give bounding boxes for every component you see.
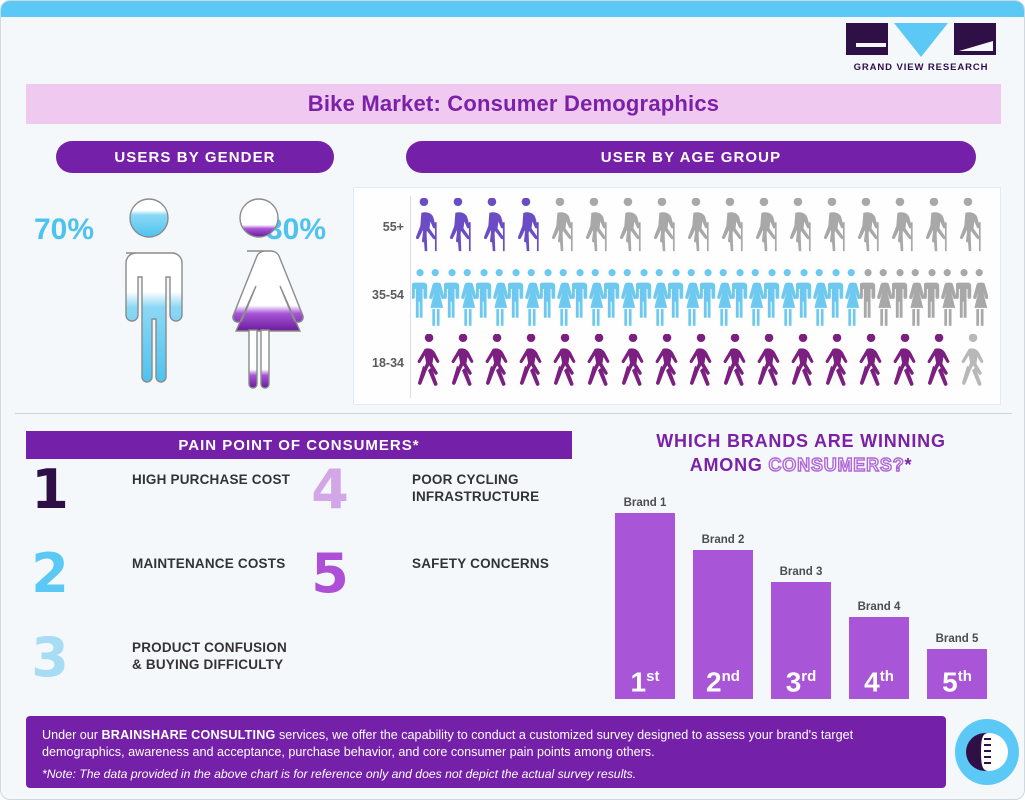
brainshare-brain-icon [953,717,1021,787]
logo-marks [846,23,996,57]
age-row-55-plus: 55+ [354,194,1002,260]
brands-title-line1: WHICH BRANDS ARE WINNING [601,429,1001,453]
section-label-gender: USERS BY GENDER [114,149,275,166]
age-row-label: 35-54 [354,288,410,302]
page-title: Bike Market: Consumer Demographics [308,91,719,117]
footer-banner: Under our BRAINSHARE CONSULTING services… [26,716,946,788]
walking-person-icon-filled [684,334,718,396]
elderly-with-cane-icon-empty [922,198,956,260]
couple-icon-filled [540,266,572,328]
couple-icon-filled [572,266,604,328]
couple-icon-filled [828,266,860,328]
pain-point-number: 3 [26,635,74,683]
couple-icon-empty [860,266,892,328]
elderly-with-cane-icon-empty [786,198,820,260]
couple-icon-filled [604,266,636,328]
couple-icon-filled [732,266,764,328]
pain-point-label-line2: INFRASTRUCTURE [412,488,539,505]
couple-icon-filled [764,266,796,328]
elderly-with-cane-icon-empty [616,198,650,260]
brand-bar: 3rd [771,582,831,699]
elderly-with-cane-icon-filled [446,198,480,260]
brands-bar-chart: Brand 11stBrand 22ndBrand 33rdBrand 44th… [601,481,1001,699]
elderly-with-cane-icon-empty [582,198,616,260]
brand-rank-label: 1st [631,663,660,696]
brand-rank-number: 4 [864,666,880,697]
pain-point-number: 5 [306,551,354,599]
couple-icon-filled [412,266,444,328]
walking-person-icon-filled [820,334,854,396]
logo-wordmark: GRAND VIEW RESEARCH [846,62,996,73]
infographic-canvas: GRAND VIEW RESEARCH Bike Market: Consume… [0,0,1025,800]
pain-point-label-line1: PRODUCT CONFUSION [132,639,287,656]
couple-icon-empty [956,266,988,328]
walking-person-icon-filled [650,334,684,396]
walking-person-icon-empty [956,334,990,396]
pain-point-label-line1: HIGH PURCHASE COST [132,471,290,488]
walking-person-icon-filled [582,334,616,396]
brand-bar-column: Brand 11st [615,497,675,699]
walking-person-icon-filled [616,334,650,396]
couple-icon-filled [796,266,828,328]
brands-title-line2: AMONG CONSUMERS?* [601,453,1001,477]
couple-icon-filled [508,266,540,328]
couple-icon-empty [924,266,956,328]
footer-text-before: Under our [42,728,102,742]
section-divider [15,413,1012,414]
age-row-label: 55+ [354,220,410,234]
age-pictogram-strip [410,266,1002,328]
section-header-users-by-gender: USERS BY GENDER [56,141,334,173]
brands-title-consumers: CONSUMERS? [768,455,904,475]
top-accent-bar [1,1,1025,17]
couple-icon-filled [700,266,732,328]
walking-person-icon-filled [752,334,786,396]
elderly-with-cane-icon-empty [684,198,718,260]
pain-point-label: POOR CYCLINGINFRASTRUCTURE [412,467,539,505]
brand-bar-column: Brand 22nd [693,534,753,699]
brand-rank-suffix: rd [801,668,816,685]
pain-point-label-line2: & BUYING DIFFICULTY [132,656,287,673]
brand-bar-label: Brand 1 [624,497,667,509]
brand-bar-label: Brand 4 [858,601,901,613]
brands-chart-title: WHICH BRANDS ARE WINNING AMONG CONSUMERS… [601,429,1001,477]
couple-icon-filled [476,266,508,328]
footer-brand-name: BRAINSHARE CONSULTING [102,728,276,742]
section-header-user-by-age-group: USER BY AGE GROUP [406,141,976,173]
brand-rank-number: 5 [942,666,958,697]
brand-rank-suffix: th [880,668,894,685]
brand-rank-label: 3rd [786,663,817,696]
elderly-with-cane-icon-filled [412,198,446,260]
footer-main-text: Under our BRAINSHARE CONSULTING services… [42,727,930,761]
age-group-chart: 55+ 35-54 18-34 [353,187,1001,405]
brand-rank-suffix: st [646,668,659,685]
brands-title-asterisk: * [905,455,913,475]
walking-person-icon-filled [922,334,956,396]
grand-view-research-logo: GRAND VIEW RESEARCH [846,23,996,73]
walking-person-icon-filled [718,334,752,396]
gender-chart: 70% 30% [26,191,336,406]
logo-triangle-v-icon [894,23,948,57]
pain-points-list: 1HIGH PURCHASE COST2MAINTENANCE COSTS3PR… [26,467,586,697]
brands-title-among: AMONG [690,455,769,475]
pain-point-number: 4 [306,467,354,515]
logo-letter-r-icon [954,23,996,55]
brand-rank-number: 3 [786,666,802,697]
section-header-pain-points: PAIN POINT OF CONSUMERS* [26,431,572,459]
pain-point-label-line1: POOR CYCLING [412,471,539,488]
age-pictogram-strip [410,198,1002,260]
walking-person-icon-filled [514,334,548,396]
couple-icon-filled [636,266,668,328]
brand-bar: 5th [927,649,987,699]
brand-bar-column: Brand 55th [927,633,987,699]
elderly-with-cane-icon-empty [820,198,854,260]
section-label-pain: PAIN POINT OF CONSUMERS* [178,437,419,454]
pain-point-label: MAINTENANCE COSTS [132,551,285,572]
walking-person-icon-filled [548,334,582,396]
elderly-with-cane-icon-empty [956,198,990,260]
walking-person-icon-filled [412,334,446,396]
brand-rank-label: 2nd [706,663,740,696]
brand-rank-number: 1 [631,666,647,697]
pain-point-label-line1: MAINTENANCE COSTS [132,555,285,572]
male-percent-label: 70% [34,213,94,247]
pain-point-label: SAFETY CONCERNS [412,551,549,572]
walking-person-icon-filled [786,334,820,396]
age-pictogram-strip [410,334,1002,396]
brand-bar-column: Brand 33rd [771,566,831,699]
pain-point-item: 5SAFETY CONCERNS [306,551,549,599]
age-row-label: 18-34 [354,356,410,370]
brand-rank-label: 4th [864,663,894,696]
couple-icon-filled [444,266,476,328]
female-silhouette-icon [204,191,314,391]
pain-point-item: 1HIGH PURCHASE COST [26,467,290,515]
pain-point-item: 3PRODUCT CONFUSION& BUYING DIFFICULTY [26,635,287,683]
elderly-with-cane-icon-filled [480,198,514,260]
brand-bar: 1st [615,513,675,699]
pain-point-label-line1: SAFETY CONCERNS [412,555,549,572]
age-row-18-34: 18-34 [354,330,1002,396]
age-row-35-54: 35-54 [354,262,1002,328]
brand-rank-label: 5th [942,663,972,696]
elderly-with-cane-icon-empty [718,198,752,260]
age-chart-rows: 55+ 35-54 18-34 [354,188,1002,406]
brand-bar-label: Brand 2 [702,534,745,546]
brand-rank-suffix: th [958,668,972,685]
pain-point-item: 2MAINTENANCE COSTS [26,551,285,599]
walking-person-icon-filled [854,334,888,396]
brand-bar-column: Brand 44th [849,601,909,699]
brand-bar-label: Brand 3 [780,566,823,578]
pain-point-label: PRODUCT CONFUSION& BUYING DIFFICULTY [132,635,287,673]
page-title-band: Bike Market: Consumer Demographics [26,84,1001,124]
walking-person-icon-filled [480,334,514,396]
brand-bar: 2nd [693,550,753,699]
elderly-with-cane-icon-empty [752,198,786,260]
section-label-age: USER BY AGE GROUP [601,149,781,166]
pain-point-number: 2 [26,551,74,599]
elderly-with-cane-icon-filled [514,198,548,260]
elderly-with-cane-icon-empty [854,198,888,260]
brand-rank-number: 2 [706,666,722,697]
brand-rank-suffix: nd [722,668,740,685]
couple-icon-empty [892,266,924,328]
footer-note: *Note: The data provided in the above ch… [42,766,930,783]
couple-icon-filled [668,266,700,328]
brand-bar: 4th [849,617,909,699]
male-silhouette-icon [104,191,194,391]
elderly-with-cane-icon-empty [650,198,684,260]
pain-point-number: 1 [26,467,74,515]
pain-point-item: 4POOR CYCLINGINFRASTRUCTURE [306,467,539,515]
pain-point-label: HIGH PURCHASE COST [132,467,290,488]
elderly-with-cane-icon-empty [548,198,582,260]
walking-person-icon-filled [446,334,480,396]
brand-bar-label: Brand 5 [936,633,979,645]
logo-letter-g-icon [846,23,888,55]
walking-person-icon-filled [888,334,922,396]
elderly-with-cane-icon-empty [888,198,922,260]
